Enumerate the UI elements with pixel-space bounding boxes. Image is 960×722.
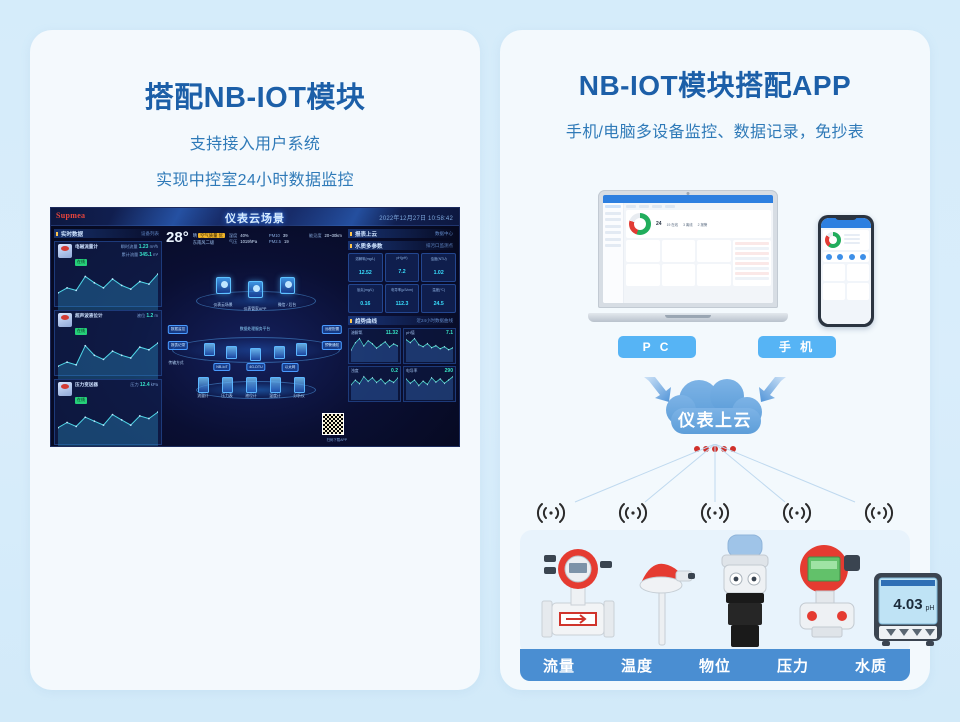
legend-row: [844, 242, 860, 244]
platform-node[interactable]: [204, 343, 215, 356]
product-showcase-panel: 4.03 pH: [520, 530, 910, 655]
weather-metric-value: 1019hPa: [240, 239, 257, 244]
weather-metric-label: PM10: [269, 233, 280, 238]
dashboard-body: 实时数据 设备列表 电磁流量计 在线 瞬时流量 1.: [51, 226, 459, 447]
temperature-sensor-icon: [628, 541, 698, 651]
metric-value: 12.4: [140, 382, 150, 388]
field-device-label: 液位计: [245, 394, 256, 399]
platform-node[interactable]: [250, 348, 261, 361]
alarm-row[interactable]: [735, 262, 769, 265]
left-panel-heading: 搭配NB-IOT模块: [30, 74, 480, 116]
platform-node[interactable]: [226, 346, 237, 359]
weather-metric-value: 40%: [240, 233, 248, 238]
device-tile[interactable]: [823, 264, 845, 281]
weather-metric-label: 湿度: [229, 233, 237, 238]
device-tile[interactable]: [697, 240, 731, 262]
sidebar-item[interactable]: [605, 212, 621, 215]
water-parameter: 氨氮(mg/L) 0.16: [348, 284, 383, 313]
metric-label: 压力: [130, 382, 138, 387]
trend-value: 11.32: [386, 330, 398, 336]
alarm-row[interactable]: [735, 272, 769, 275]
category-label-temperature[interactable]: 温度: [598, 655, 676, 676]
device-name: 压力变送器: [75, 382, 127, 388]
category-label-flow[interactable]: 流量: [520, 655, 598, 676]
pyramid-node[interactable]: [248, 281, 263, 298]
sidebar-item[interactable]: [605, 205, 621, 208]
wifi-signal-icon: [864, 500, 894, 526]
trend-name: 溶解氧: [351, 331, 362, 336]
realtime-panel-note: 设备列表: [141, 231, 159, 237]
quick-action-icon[interactable]: [837, 254, 843, 260]
trend-value: 7.1: [446, 330, 453, 336]
left-panel-subtitle-2: 实现中控室24小时数据监控: [30, 166, 480, 190]
field-device-label: 温度计: [269, 394, 280, 399]
field-device-label: 压力表: [221, 394, 232, 399]
parameter-label: 溶解氧(mg/L): [349, 256, 382, 261]
laptop-lid: 仪表管家云平台: [598, 190, 778, 308]
webapp-tabs[interactable]: [626, 205, 771, 208]
device-trend-chart: [58, 270, 158, 310]
quick-action-icon[interactable]: [826, 254, 832, 260]
level-meter-icon: [706, 533, 784, 651]
device-card[interactable]: 压力变送器 在线 压力 12.4 kPa: [54, 379, 162, 445]
side-label: 报表记录: [168, 341, 188, 350]
pyramid-node-label: 仪表管家APP: [244, 307, 267, 312]
weather-bar: 28° 晴 空气质量 优 东南风二级 湿度40% PM1039 能见度20~30…: [164, 229, 347, 247]
wifi-signal-icon: [618, 500, 648, 526]
metric-unit: m³/h: [150, 244, 158, 249]
parameter-label: 温度(℃): [422, 287, 455, 292]
phone-screen: [821, 218, 871, 324]
weather-metric-value: 39: [283, 233, 288, 238]
alarm-list[interactable]: [733, 240, 771, 286]
metric-value: 345.1: [139, 252, 152, 258]
laptop-base: [588, 313, 788, 322]
kpi-total: 24: [656, 221, 662, 227]
alarm-row[interactable]: [735, 252, 769, 255]
quick-action-icon[interactable]: [860, 254, 866, 260]
trend-panel-note: 近24小时数据曲线: [416, 318, 453, 324]
trend-name: pH值: [406, 331, 415, 336]
trend-panel-header: 趋势曲线 近24小时数据曲线: [348, 316, 456, 325]
sidebar-item[interactable]: [605, 225, 621, 228]
trend-name: 电导率: [406, 369, 417, 374]
field-device[interactable]: [294, 377, 305, 393]
realtime-panel-header: 实时数据 设备列表: [54, 229, 162, 238]
trend-sparkline: [351, 374, 398, 400]
qr-caption: 扫码下载APP: [327, 437, 347, 442]
report-panel-note: 数据中心: [435, 231, 453, 237]
pyramid-node[interactable]: [216, 277, 231, 294]
trend-chart-card: 溶解氧 11.32: [348, 328, 401, 364]
phoneapp-kpi: [823, 230, 869, 250]
aqi-badge: 空气质量 优: [198, 233, 225, 238]
metric-label: 瞬时流量: [121, 244, 138, 249]
dashboard-timestamp: 2022年12月27日 10:58:42: [379, 213, 453, 222]
field-device[interactable]: [198, 377, 209, 393]
weather-metric-value: 19: [284, 239, 289, 244]
temperature-value: 28: [166, 229, 183, 246]
phone-notch: [835, 215, 857, 220]
metric-label: 累计流量: [121, 252, 138, 257]
water-parameter: 电导率(μS/cm) 112.3: [385, 284, 420, 313]
phone-mockup: [818, 215, 874, 327]
kpi-online: 19 在线: [667, 222, 679, 227]
alarm-row[interactable]: [735, 267, 769, 270]
wifi-signal-icon: [782, 500, 812, 526]
sidebar-item[interactable]: [605, 231, 621, 234]
metric-value: 1.2: [146, 313, 153, 319]
device-tile[interactable]: [823, 283, 845, 300]
status-badge: 在线: [75, 259, 87, 266]
device-tile[interactable]: [626, 240, 660, 262]
water-panel-note: 排污口监测点: [426, 243, 453, 249]
weather-temperature: 28°: [166, 230, 189, 245]
left-panel-subtitle-1: 支持接入用户系统: [30, 130, 480, 154]
weather-metric-value: 20~30km: [325, 233, 342, 238]
transport-option[interactable]: NB-IoT: [213, 363, 230, 371]
trend-sparkline: [406, 374, 453, 400]
webapp-content: 24 19 在线 3 离线 2 报警: [624, 203, 773, 303]
metric-unit: m³: [153, 252, 158, 257]
page-root: 搭配NB-IOT模块 支持接入用户系统 实现中控室24小时数据监控 Supmea…: [0, 0, 960, 722]
platform-tag-pc[interactable]: P C: [618, 336, 696, 358]
laptop-mockup: 仪表管家云平台: [588, 190, 788, 322]
pyramid-node-label: 仪表云场景: [214, 303, 233, 308]
degree-symbol: °: [183, 229, 189, 246]
metric-unit: kPa: [151, 382, 158, 387]
water-parameter: 溶解氧(mg/L) 12.52: [348, 253, 383, 282]
metric-value: 1.23: [139, 244, 149, 250]
parameter-value: 0.16: [360, 301, 370, 307]
device-card[interactable]: 电磁流量计 在线 瞬时流量 1.23 m³/h 累计流量 345.1 m³: [54, 241, 162, 307]
dashboard-center-column: 28° 晴 空气质量 优 东南风二级 湿度40% PM1039 能见度20~30…: [164, 229, 347, 445]
device-category-bar: 流量 温度 物位 压力 水质: [520, 649, 910, 681]
ph-reading-unit: pH: [926, 605, 935, 612]
status-badge: 在线: [75, 328, 87, 335]
metric-label: 液位: [137, 313, 145, 318]
transport-label: 传输方式: [168, 361, 183, 366]
phoneapp-quick-actions[interactable]: [823, 252, 869, 262]
webapp-kpi-panel: 24 19 在线 3 离线 2 报警: [626, 210, 771, 238]
trend-sparkline: [351, 336, 398, 362]
tab[interactable]: [652, 205, 662, 208]
device-card-grid: [626, 240, 731, 286]
device-trend-chart: [58, 339, 158, 379]
dashboard-left-column: 实时数据 设备列表 电磁流量计 在线 瞬时流量 1.: [54, 229, 162, 445]
field-device[interactable]: [222, 377, 233, 393]
platform-label: 数据处理服务平台: [240, 327, 270, 332]
ph-reading-value: 4.03: [893, 596, 922, 613]
weather-metric-label: 能见度: [309, 233, 322, 238]
pyramid-node-label: 微信 / 后台: [278, 303, 296, 308]
trend-sparkline: [406, 336, 453, 362]
pressure-transmitter-icon: [58, 382, 72, 396]
category-label-pressure[interactable]: 压力: [754, 655, 832, 676]
water-panel-header: 水质多参数 排污口监测点: [348, 241, 456, 250]
parameter-label: 电导率(μS/cm): [386, 287, 419, 292]
transport-option[interactable]: 4G-DTU: [246, 363, 265, 371]
device-card[interactable]: 超声波液位计 在线 液位 1.2 m: [54, 310, 162, 376]
parameter-value: 112.3: [396, 301, 409, 307]
sidebar-item[interactable]: [605, 218, 621, 221]
water-parameter: 温度(℃) 24.5: [421, 284, 456, 313]
connection-rays: [500, 444, 930, 506]
side-label: 预警通知: [322, 341, 342, 350]
category-label-level[interactable]: 物位: [676, 655, 754, 676]
dashboard-screenshot: Supmea 仪表云场景 2022年12月27日 10:58:42 实时数据 设…: [50, 207, 460, 447]
alarm-row[interactable]: [735, 257, 769, 260]
quick-action-icon[interactable]: [849, 254, 855, 260]
water-parameter: pH(pH) 7.2: [385, 253, 420, 282]
trend-name: 浊度: [351, 369, 359, 374]
tab[interactable]: [639, 205, 649, 208]
phoneapp-body: [821, 228, 871, 324]
parameter-label: 氨氮(mg/L): [349, 287, 382, 292]
weather-metrics: 湿度40% PM1039 能见度20~30km 气压1019hPa PM2.51…: [229, 230, 345, 245]
wifi-signal-icon: [536, 500, 566, 526]
tab[interactable]: [626, 205, 636, 208]
level-meter-icon: [58, 313, 72, 327]
dashboard-right-column: 报表上云 数据中心 水质多参数 排污口监测点 溶解氧(mg/L) 12.52: [348, 229, 456, 445]
qr-code[interactable]: [322, 413, 344, 435]
side-label: 远程配置: [322, 325, 342, 334]
field-device[interactable]: [246, 377, 257, 393]
sidebar-item[interactable]: [605, 244, 621, 247]
cloud-label: 仪表上云: [655, 406, 775, 431]
field-device-label: 分析仪: [293, 394, 304, 399]
trend-value: 0.2: [391, 368, 398, 374]
field-device[interactable]: [270, 377, 281, 393]
pyramid-node[interactable]: [280, 277, 295, 294]
trend-chart-card: 电导率 290: [403, 366, 456, 402]
alarm-row[interactable]: [735, 277, 769, 280]
tab[interactable]: [665, 205, 675, 208]
device-trend-chart: [58, 408, 158, 447]
parameter-label: 浊度(NTU): [422, 256, 455, 261]
water-parameter: 浊度(NTU) 1.02: [421, 253, 456, 282]
device-name: 电磁流量计: [75, 244, 118, 250]
status-donut-chart: [629, 213, 651, 235]
water-panel-title: 水质多参数: [355, 242, 383, 250]
parameter-value: 1.02: [434, 270, 444, 276]
trend-chart-grid: 溶解氧 11.32 pH值 7.1: [348, 328, 456, 402]
device-tile[interactable]: [626, 264, 660, 286]
kpi-offline: 3 离线: [683, 222, 693, 227]
laptop-screen: 仪表管家云平台: [603, 195, 773, 303]
status-badge: 在线: [75, 397, 87, 404]
platform-node[interactable]: [274, 346, 285, 359]
weather-condition: 晴: [193, 233, 197, 238]
legend-row: [844, 238, 860, 240]
water-quality-analyzer-icon: 4.03 pH: [868, 569, 950, 651]
dashboard-header: Supmea 仪表云场景 2022年12月27日 10:58:42: [51, 208, 459, 226]
report-panel-header: 报表上云 数据中心: [348, 229, 456, 238]
right-panel-diagram: 仪表管家云平台: [500, 30, 930, 690]
right-panel-card: NB-IOT模块搭配APP 手机/电脑多设备监控、数据记录，免抄表 仪表管家云平…: [500, 30, 930, 690]
status-donut-chart: [825, 232, 841, 248]
sidebar-item[interactable]: [605, 238, 621, 241]
pressure-transmitter-icon: [790, 539, 868, 651]
alarm-row[interactable]: [735, 242, 769, 245]
phoneapp-device-grid: [823, 264, 869, 300]
device-tile[interactable]: [662, 264, 696, 286]
flow-meter-icon: [58, 244, 72, 258]
device-tile[interactable]: [697, 264, 731, 286]
platform-tag-phone[interactable]: 手 机: [758, 336, 836, 358]
trend-chart-card: 浊度 0.2: [348, 366, 401, 402]
kpi-alarm: 2 报警: [698, 222, 708, 227]
platform-node[interactable]: [296, 343, 307, 356]
status-legend: [844, 234, 860, 246]
water-parameter-grid: 溶解氧(mg/L) 12.52 pH(pH) 7.2 浊度(NTU) 1.02 …: [348, 253, 456, 313]
parameter-value: 12.52: [359, 270, 372, 276]
cloud-graphic: 仪表上云: [655, 378, 775, 440]
device-name: 超声波液位计: [75, 313, 134, 319]
legend-row: [844, 234, 860, 236]
device-tile[interactable]: [847, 283, 869, 300]
wifi-signal-icon: [700, 500, 730, 526]
trend-value: 290: [445, 368, 453, 374]
transport-option[interactable]: 以太网: [282, 363, 299, 372]
metric-unit: m: [155, 313, 159, 318]
architecture-pyramid: 仪表云场景 仪表管家APP 微信 / 后台 数据监控 报表记录 远程配置 预警通…: [164, 251, 347, 401]
parameter-value: 24.5: [434, 301, 444, 307]
side-label: 数据监控: [168, 325, 188, 334]
device-tile[interactable]: [662, 240, 696, 262]
parameter-label: pH(pH): [386, 256, 419, 260]
flow-meter-icon: [538, 541, 618, 651]
webapp-sidebar[interactable]: [603, 203, 624, 303]
field-device-label: 流量计: [197, 394, 208, 399]
report-panel-title: 报表上云: [355, 230, 377, 238]
parameter-value: 7.2: [398, 269, 405, 275]
realtime-panel-title: 实时数据: [61, 230, 83, 238]
signal-row: [500, 500, 930, 530]
weather-metric-label: PM2.5: [269, 239, 281, 244]
weather-wind: 东南风二级: [193, 239, 225, 246]
webapp-header: 仪表管家云平台: [603, 195, 773, 203]
category-label-quality[interactable]: 水质: [832, 655, 910, 676]
weather-condition-block: 晴 空气质量 优 东南风二级: [193, 230, 225, 247]
alarm-row[interactable]: [735, 247, 769, 250]
left-panel-card: 搭配NB-IOT模块 支持接入用户系统 实现中控室24小时数据监控 Supmea…: [30, 30, 480, 690]
trend-panel-title: 趋势曲线: [355, 317, 377, 325]
kpi-total-value: 24: [656, 221, 662, 227]
trend-chart-card: pH值 7.1: [403, 328, 456, 364]
weather-metric-label: 气压: [229, 239, 237, 244]
device-tile[interactable]: [847, 264, 869, 281]
